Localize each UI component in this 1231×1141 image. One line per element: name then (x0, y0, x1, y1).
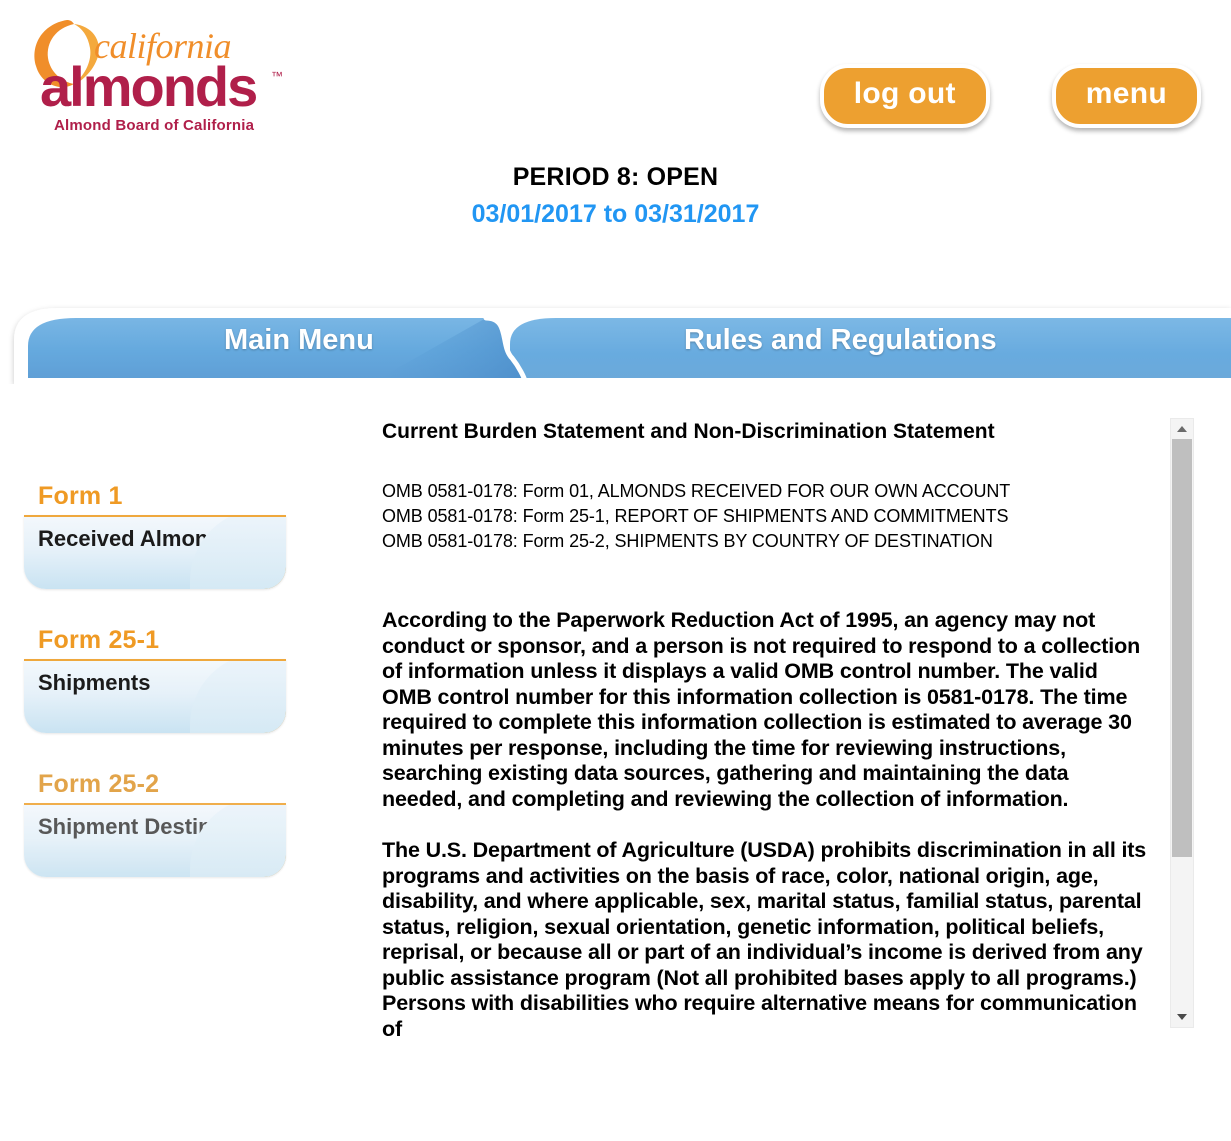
form-card-form-25-1[interactable]: Form 25-1 Shipments (24, 624, 286, 733)
document-heading: Current Burden Statement and Non-Discrim… (382, 418, 1150, 445)
burden-statement-panel: Current Burden Statement and Non-Discrim… (378, 418, 1168, 1066)
period-date-range: 03/01/2017 to 03/31/2017 (0, 197, 1231, 231)
scroll-up-arrow-icon[interactable] (1171, 419, 1193, 439)
tab-bar: Main Menu Rules and Regulations (0, 296, 1231, 384)
page-header: california almonds ™ Almond Board of Cal… (0, 0, 1231, 150)
omb-line: OMB 0581-0178: Form 25-1, REPORT OF SHIP… (382, 504, 1150, 529)
header-actions: log out menu (820, 64, 1201, 128)
form-shortcut-list: Form 1 Received Almonds Form 25-1 Shipme… (24, 480, 288, 912)
corner-swoosh-decoration (206, 527, 286, 589)
svg-text:almonds: almonds (40, 55, 256, 118)
omb-line: OMB 0581-0178: Form 01, ALMONDS RECEIVED… (382, 479, 1150, 504)
corner-swoosh-decoration (206, 815, 286, 877)
period-title: PERIOD 8: OPEN (0, 162, 1231, 192)
form-card-body[interactable]: Shipment Destination (24, 803, 286, 877)
form-card-label: Shipments (38, 669, 150, 697)
log-out-button[interactable]: log out (820, 64, 990, 128)
corner-swoosh-decoration (206, 671, 286, 733)
form-card-form-number: Form 25-1 (24, 624, 286, 659)
form-card-form-number: Form 1 (24, 480, 286, 515)
period-banner: PERIOD 8: OPEN 03/01/2017 to 03/31/2017 (0, 162, 1231, 231)
page-content: Form 1 Received Almonds Form 25-1 Shipme… (0, 384, 1231, 1084)
scrollbar-thumb[interactable] (1172, 439, 1192, 857)
burden-statement-document: Current Burden Statement and Non-Discrim… (378, 418, 1150, 1042)
svg-text:Almond Board of California: Almond Board of California (54, 117, 255, 134)
tab-rules-and-regulations-label[interactable]: Rules and Regulations (684, 324, 997, 357)
svg-text:™: ™ (271, 69, 283, 83)
form-card-body[interactable]: Received Almonds (24, 515, 286, 589)
form-card-body[interactable]: Shipments (24, 659, 286, 733)
usda-non-discrimination-paragraph: The U.S. Department of Agriculture (USDA… (382, 838, 1150, 1042)
california-almonds-logo: california almonds ™ Almond Board of Cal… (22, 14, 292, 140)
menu-button[interactable]: menu (1052, 64, 1201, 128)
form-card-form-number: Form 25-2 (24, 768, 286, 803)
form-card-form-1[interactable]: Form 1 Received Almonds (24, 480, 286, 589)
document-scrollbar[interactable] (1170, 418, 1194, 1028)
paperwork-reduction-act-paragraph: According to the Paperwork Reduction Act… (382, 608, 1150, 812)
tab-main-menu-label[interactable]: Main Menu (224, 324, 374, 357)
form-card-form-25-2[interactable]: Form 25-2 Shipment Destination (24, 768, 286, 877)
scroll-down-arrow-icon[interactable] (1171, 1007, 1193, 1027)
omb-line: OMB 0581-0178: Form 25-2, SHIPMENTS BY C… (382, 529, 1150, 554)
